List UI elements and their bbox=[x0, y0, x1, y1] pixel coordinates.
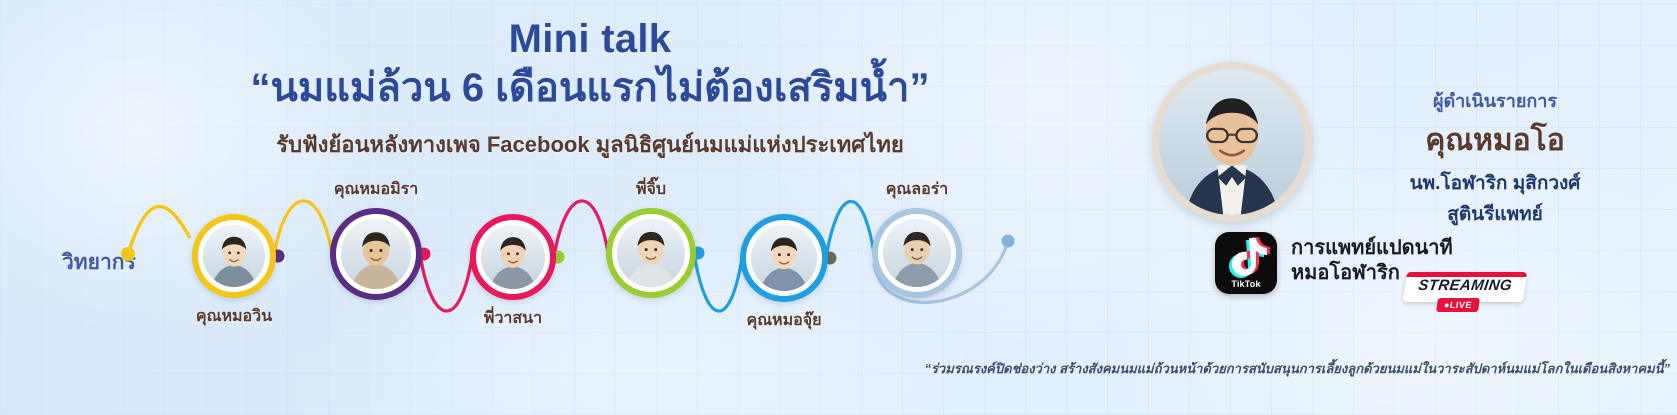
connector-arc bbox=[554, 201, 608, 257]
speaker-ring bbox=[606, 208, 696, 298]
speaker-ring bbox=[192, 214, 276, 298]
speaker-photo bbox=[481, 225, 545, 289]
live-badge: ●LIVE bbox=[1436, 298, 1480, 312]
speaker-photo bbox=[617, 219, 685, 287]
connector-dot bbox=[121, 247, 135, 261]
speaker-5[interactable]: คุณหมอจุ๊ย bbox=[740, 214, 828, 302]
host-avatar bbox=[1152, 62, 1312, 222]
connector-arc bbox=[826, 201, 874, 258]
connector-arc bbox=[694, 253, 742, 311]
tiktok-icon[interactable]: TikTok bbox=[1215, 232, 1277, 294]
channel-line-1: การแพทย์แปดนาที bbox=[1291, 236, 1453, 261]
speaker-portrait bbox=[617, 219, 685, 287]
headline-main: Mini talk bbox=[0, 18, 1180, 60]
speaker-portrait bbox=[883, 219, 951, 287]
speaker-6[interactable]: คุณลอร่า bbox=[872, 208, 962, 298]
host-specialty: สูตินรีแพทย์ bbox=[1330, 199, 1660, 229]
host-role: ผู้ดำเนินรายการ bbox=[1330, 86, 1660, 115]
host-portrait-illustration bbox=[1159, 69, 1305, 215]
banner-root: Mini talk “นมแม่ล้วน 6 เดือนแรกไม่ต้องเส… bbox=[0, 0, 1677, 415]
speaker-4[interactable]: พี่จิ๊บ bbox=[606, 208, 696, 298]
headline-subtitle: รับฟังย้อนหลังทางเพจ Facebook มูลนิธิศูน… bbox=[0, 127, 1180, 162]
connector-arc bbox=[128, 206, 190, 254]
speaker-ring bbox=[740, 214, 828, 302]
speaker-photo bbox=[751, 225, 817, 291]
host-text-block: ผู้ดำเนินรายการ คุณหมอโอ นพ.โอฬาริก มุสิ… bbox=[1330, 86, 1660, 229]
headline-quote: “นมแม่ล้วน 6 เดือนแรกไม่ต้องเสริมน้ำ” bbox=[0, 66, 1180, 111]
speaker-1[interactable]: คุณหมอวิน bbox=[192, 214, 276, 298]
host-photo bbox=[1159, 69, 1305, 215]
speaker-name-label: พี่วาสนา bbox=[484, 306, 542, 331]
speaker-ring bbox=[330, 208, 422, 300]
speaker-name-label: พี่จิ๊บ bbox=[636, 177, 666, 202]
streaming-label: STREAMING bbox=[1404, 277, 1526, 294]
speaker-photo bbox=[203, 225, 265, 287]
host-full-name: นพ.โอฬาริก มุสิกวงศ์ bbox=[1330, 168, 1660, 198]
speaker-ring bbox=[872, 208, 962, 298]
speakers-row: คุณหมอวินคุณหมอมิราพี่วาสนาพี่จิ๊บคุณหมอ… bbox=[0, 178, 1060, 348]
connector-arc bbox=[420, 254, 472, 311]
speaker-photo bbox=[883, 219, 951, 287]
speaker-2[interactable]: คุณหมอมิรา bbox=[330, 208, 422, 300]
speaker-name-label: คุณหมอวิน bbox=[196, 304, 272, 329]
host-nickname: คุณหมอโอ bbox=[1330, 117, 1660, 164]
speaker-portrait bbox=[203, 225, 265, 287]
connector-dot bbox=[1002, 235, 1015, 248]
speaker-ring bbox=[470, 214, 556, 300]
speaker-photo bbox=[341, 219, 411, 289]
speaker-name-label: คุณหมอมิรา bbox=[334, 177, 418, 202]
speaker-portrait bbox=[481, 225, 545, 289]
tiktok-note-icon bbox=[1215, 232, 1277, 282]
speaker-name-label: คุณลอร่า bbox=[886, 177, 949, 202]
headline-block: Mini talk “นมแม่ล้วน 6 เดือนแรกไม่ต้องเส… bbox=[0, 18, 1180, 162]
speaker-portrait bbox=[341, 219, 411, 289]
speaker-name-label: คุณหมอจุ๊ย bbox=[747, 308, 822, 333]
tiktok-wordmark: TikTok bbox=[1215, 279, 1277, 289]
footer-note: “ร่วมรณรงค์ปิดช่องว่าง สร้างสังคมนมแม่ถ้… bbox=[840, 358, 1670, 379]
host-card: ผู้ดำเนินรายการ คุณหมอโอ นพ.โอฬาริก มุสิ… bbox=[1130, 62, 1670, 232]
speaker-3[interactable]: พี่วาสนา bbox=[470, 214, 556, 300]
speaker-portrait bbox=[751, 225, 817, 291]
connector-arc bbox=[274, 201, 332, 256]
